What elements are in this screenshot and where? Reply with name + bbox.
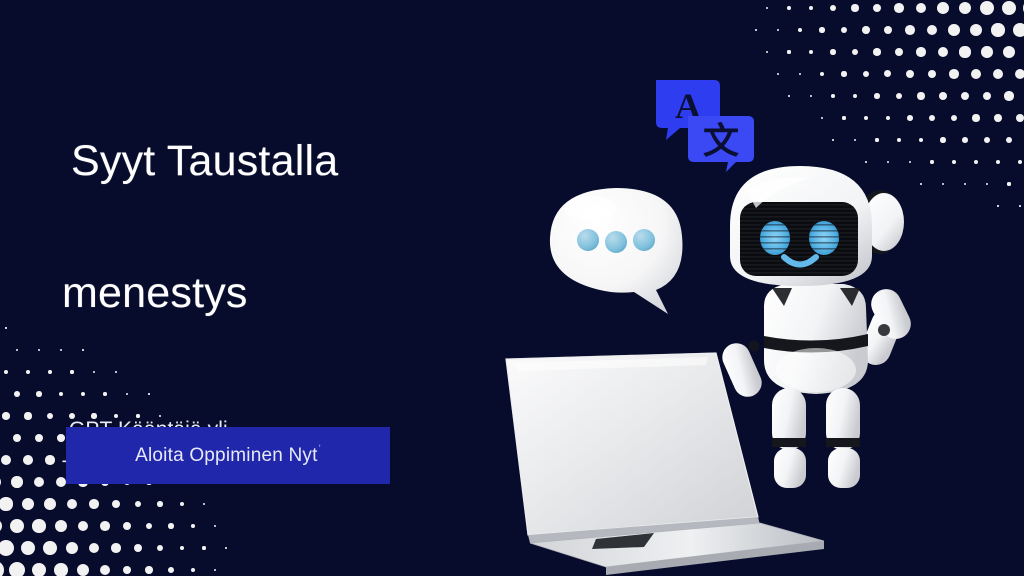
robot-eye-left — [760, 221, 790, 255]
translate-icon: A 文 — [650, 74, 756, 172]
cta-label: Aloita Oppiminen Nyt — [135, 445, 317, 467]
chat-bubble-svg — [538, 182, 698, 317]
page-title-line-1: Syyt Taustalla — [62, 128, 482, 194]
page-title: Syyt Taustalla menestys — [62, 62, 482, 392]
bubble-dot-2 — [605, 231, 627, 253]
robot-legs — [772, 388, 860, 488]
start-learning-button[interactable]: Aloita Oppiminen Nyt' — [66, 427, 390, 484]
translate-cjk-bubble: 文 — [688, 116, 754, 172]
robot-eye-right — [809, 221, 839, 255]
chat-bubble-icon — [538, 182, 698, 317]
translate-cjk-glyph: 文 — [703, 121, 739, 162]
robot-illustration — [716, 160, 936, 500]
page-title-line-2: menestys — [62, 260, 482, 326]
cta-trailing-mark: ' — [319, 443, 321, 455]
robot-lower-arm — [718, 339, 766, 402]
bubble-dot-1 — [577, 229, 599, 251]
text-column: Syyt Taustalla menestys GPT Kääntäjä yli… — [62, 62, 482, 488]
slide-canvas: A 文 Syyt Taustalla menestys GPT Kääntäjä… — [0, 0, 1024, 576]
translate-icon-svg: A 文 — [650, 74, 756, 172]
bubble-dot-3 — [633, 229, 655, 251]
robot-head — [730, 166, 904, 286]
robot-svg — [716, 160, 936, 500]
